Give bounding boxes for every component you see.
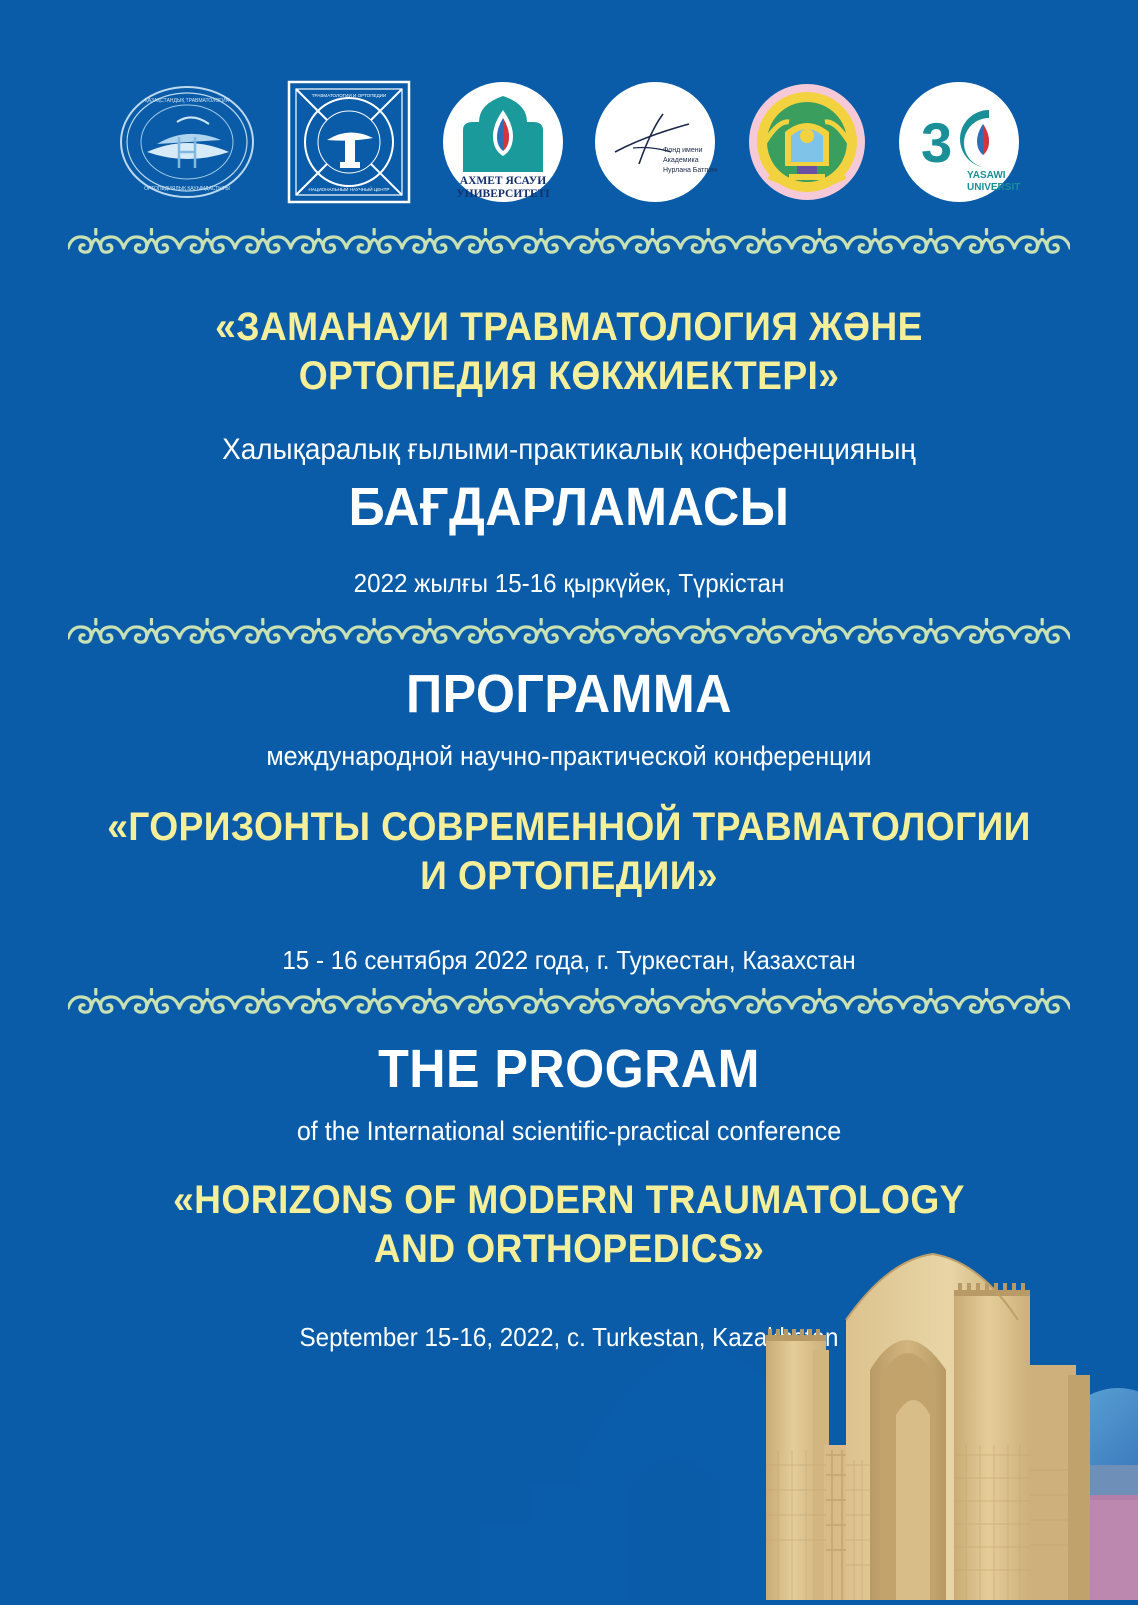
kazakh-title-line-2: ОРТОПЕДИЯ КӨКЖИЕКТЕРІ»	[40, 354, 1098, 399]
russian-subtitle-wrap: международной научно-практической конфер…	[0, 740, 1138, 772]
svg-text:НАЦИОНАЛЬНЫЙ НАУЧНЫЙ ЦЕНТР: НАЦИОНАЛЬНЫЙ НАУЧНЫЙ ЦЕНТР	[309, 185, 390, 192]
russian-program-word: ПРОГРАММА	[40, 665, 1098, 723]
logo-kazakhstan-traumatology-orthopedic-association: ҚАЗАҚСТАНДЫҚ ТРАВМАТОЛОГИЯ ОРТОПЕДИЯЛЫҚ …	[117, 82, 257, 207]
ornament-divider-bottom	[68, 988, 1070, 1018]
logo-yasawi-university-30-years: 3 YASAWI UNIVERSITY	[897, 80, 1021, 209]
svg-text:АХМЕТ ЯСАУИ: АХМЕТ ЯСАУИ	[460, 175, 546, 187]
kazakh-date-wrap: 2022 жылғы 15-16 қыркүйек, Түркістан	[0, 568, 1138, 599]
ornament-divider-middle	[68, 618, 1070, 648]
kazakh-section: «ЗАМАНАУИ ТРАВМАТОЛОГИЯ ЖӘНЕ ОРТОПЕДИЯ К…	[0, 305, 1138, 399]
logo-strip: ҚАЗАҚСТАНДЫҚ ТРАВМАТОЛОГИЯ ОРТОПЕДИЯЛЫҚ …	[0, 74, 1138, 214]
russian-title-line-1: «ГОРИЗОНТЫ СОВРЕМЕННОЙ ТРАВМАТОЛОГИИ	[40, 805, 1098, 850]
english-subtitle: of the International scientific-practica…	[40, 1115, 1098, 1147]
ornament-divider-top	[68, 228, 1070, 258]
kazakh-program-word: БАҒДАРЛАМАСЫ	[40, 478, 1098, 536]
kazakh-title-line-1: «ЗАМАНАУИ ТРАВМАТОЛОГИЯ ЖӘНЕ	[40, 305, 1098, 350]
kazakh-program-wrap: БАҒДАРЛАМАСЫ	[0, 478, 1138, 536]
kazakh-subtitle-wrap: Халықаралық ғылыми-практикалық конференц…	[0, 432, 1138, 468]
russian-date-wrap: 15 - 16 сентября 2022 года, г. Туркестан…	[0, 945, 1138, 976]
kazakh-subtitle: Халықаралық ғылыми-практикалық конференц…	[40, 432, 1098, 468]
kazakh-date: 2022 жылғы 15-16 қыркүйек, Түркістан	[40, 568, 1098, 599]
logo-national-center-traumatology-orthopedics: ТРАВМАТОЛОГИИ И ОРТОПЕДИИ НАЦИОНАЛЬНЫЙ Н…	[285, 78, 413, 211]
svg-text:ОРТОПЕДИЯЛЫҚ ҚАУЫМДАСТЫҒЫ: ОРТОПЕДИЯЛЫҚ ҚАУЫМДАСТЫҒЫ	[144, 186, 230, 192]
english-subtitle-wrap: of the International scientific-practica…	[0, 1115, 1138, 1147]
logo-batpenov-foundation: Фонд имени Академика Нурлана Батпенова	[593, 80, 717, 209]
english-program-word: THE PROGRAM	[40, 1040, 1098, 1098]
svg-text:UNIVERSITY: UNIVERSITY	[967, 182, 1021, 193]
svg-text:ТРАВМАТОЛОГИИ И ОРТОПЕДИИ: ТРАВМАТОЛОГИИ И ОРТОПЕДИИ	[312, 93, 387, 98]
russian-date: 15 - 16 сентября 2022 года, г. Туркестан…	[40, 945, 1098, 976]
svg-text:Фонд имени: Фонд имени	[663, 147, 703, 154]
russian-title-line-2: И ОРТОПЕДИИ»	[40, 854, 1098, 899]
english-title-line-1: «HORIZONS OF MODERN TRAUMATOLOGY	[40, 1178, 1098, 1223]
russian-section: «ГОРИЗОНТЫ СОВРЕМЕННОЙ ТРАВМАТОЛОГИИ И О…	[0, 805, 1138, 899]
svg-text:УНИВЕРСИТЕТІ: УНИВЕРСИТЕТІ	[456, 188, 550, 200]
svg-text:3: 3	[921, 111, 952, 174]
russian-subtitle: международной научно-практической конфер…	[40, 740, 1098, 772]
english-program-wrap: THE PROGRAM	[0, 1040, 1138, 1098]
svg-text:Нурлана Батпенова: Нурлана Батпенова	[663, 167, 717, 174]
svg-text:Академика: Академика	[663, 157, 699, 164]
khoja-ahmed-yasawi-mausoleum-photo	[718, 1250, 1138, 1600]
logo-akhmet-yassawi-university: АХМЕТ ЯСАУИ УНИВЕРСИТЕТІ	[441, 80, 565, 209]
logo-kazakhstan-state-emblem	[745, 80, 869, 209]
svg-text:YASAWI: YASAWI	[967, 170, 1006, 181]
russian-program-wrap: ПРОГРАММА	[0, 665, 1138, 723]
svg-text:ҚАЗАҚСТАНДЫҚ ТРАВМАТОЛОГИЯ: ҚАЗАҚСТАНДЫҚ ТРАВМАТОЛОГИЯ	[145, 98, 230, 104]
